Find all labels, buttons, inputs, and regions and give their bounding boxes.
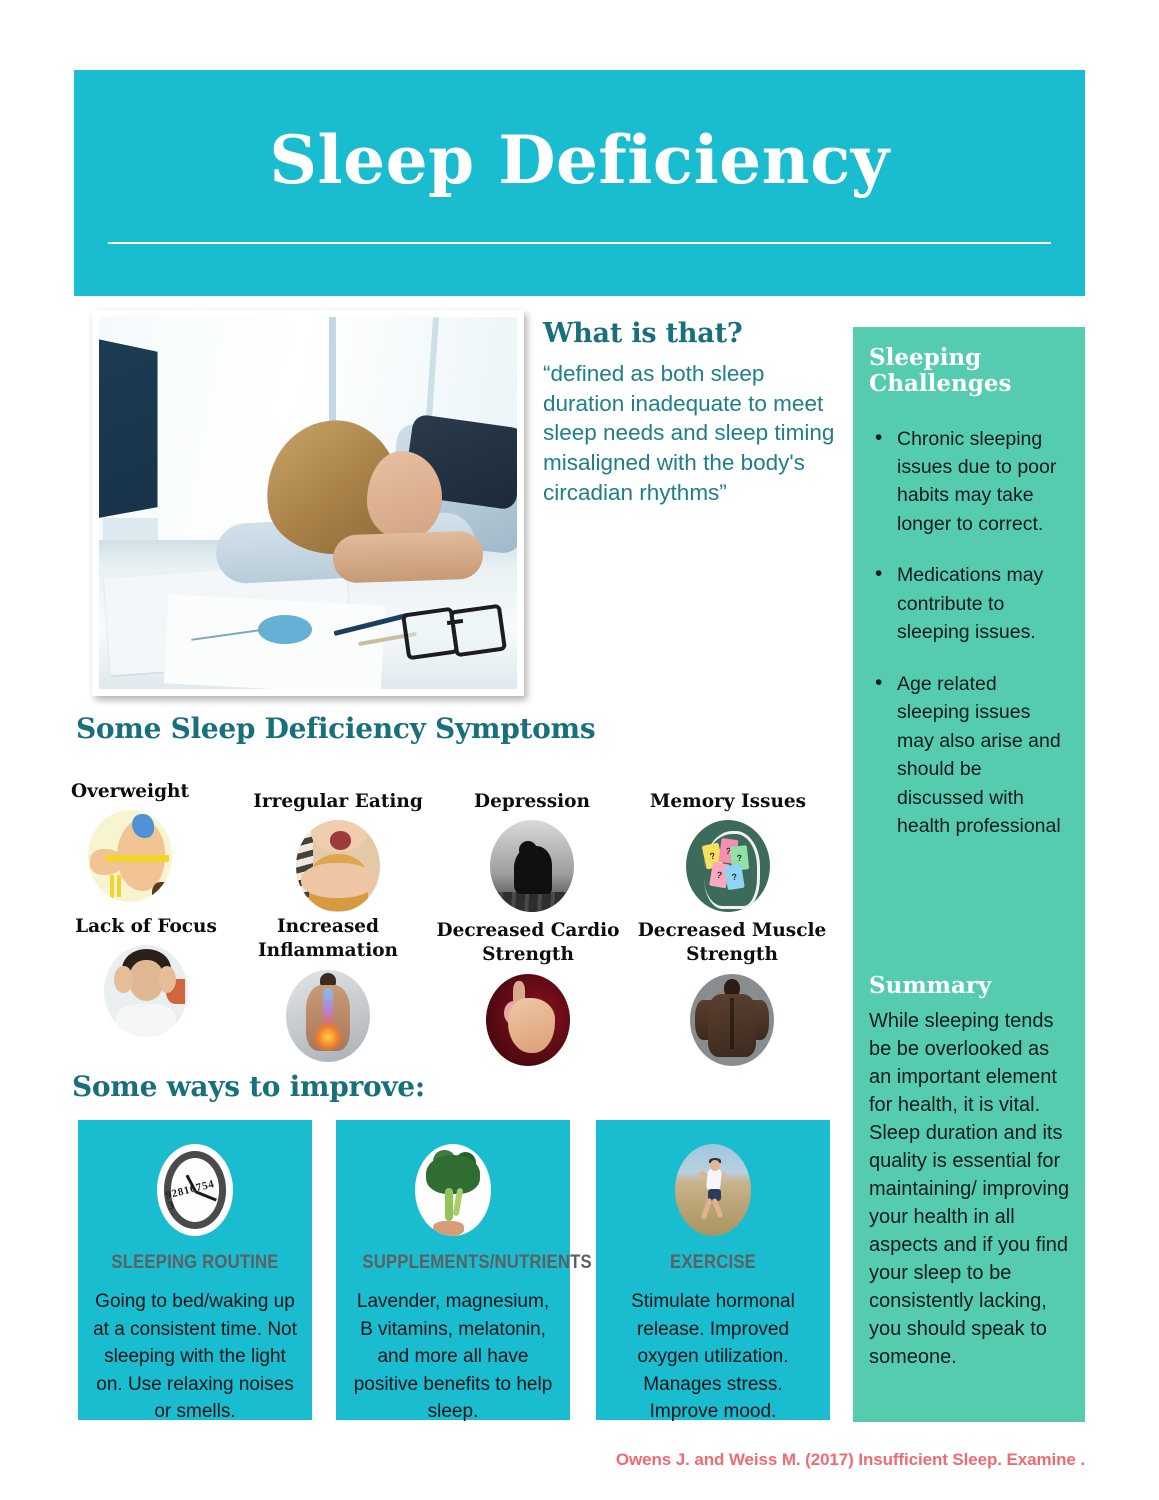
symptom-depression: Depression bbox=[432, 790, 632, 912]
sleeping-challenges-heading: Sleeping Challenges bbox=[869, 345, 1069, 397]
sleeping-man-photo bbox=[99, 317, 517, 689]
what-is-that-heading: What is that? bbox=[543, 318, 843, 349]
glasses-icon bbox=[404, 607, 504, 655]
runner-icon bbox=[675, 1144, 751, 1236]
list-item: Age related sleeping issues may also ari… bbox=[869, 670, 1069, 841]
symptom-increased-inflammation: Increased Inflammation bbox=[228, 915, 428, 1062]
what-is-that-body: “defined as both sleep duration inadequa… bbox=[543, 359, 843, 507]
symptom-label: Overweight bbox=[30, 780, 230, 804]
monitor-icon bbox=[99, 339, 158, 518]
cardio-strength-icon bbox=[486, 974, 570, 1066]
improve-card-supplements[interactable]: SUPPLEMENTS/NUTRIENTS Lavender, magnesiu… bbox=[336, 1120, 570, 1420]
symptoms-heading: Some Sleep Deficiency Symptoms bbox=[76, 712, 595, 745]
memory-issues-icon: ??? ?? bbox=[686, 820, 770, 912]
muscle-strength-icon bbox=[690, 974, 774, 1066]
card-title: EXERCISE bbox=[622, 1252, 803, 1274]
hero-photo-frame bbox=[92, 310, 524, 696]
summary-block: Summary While sleeping tends be be overl… bbox=[869, 972, 1071, 1371]
symptom-overweight: Overweight bbox=[30, 780, 230, 902]
card-body: Lavender, magnesium, B vitamins, melaton… bbox=[350, 1288, 556, 1426]
card-body: Going to bed/waking up at a consistent t… bbox=[92, 1288, 298, 1426]
improve-card-sleeping-routine[interactable]: 9 2 8 1 6 7 5 4 3 SLEEPING ROUTINE Going… bbox=[78, 1120, 312, 1420]
symptom-lack-of-focus: Lack of Focus bbox=[46, 915, 246, 1037]
list-item: Chronic sleeping issues due to poor habi… bbox=[869, 425, 1069, 539]
symptom-label: Decreased Muscle Strength bbox=[632, 919, 832, 968]
header-divider bbox=[108, 242, 1051, 244]
sleeping-challenges-list: Chronic sleeping issues due to poor habi… bbox=[869, 425, 1069, 841]
lack-of-focus-icon bbox=[104, 945, 188, 1037]
summary-body: While sleeping tends be be overlooked as… bbox=[869, 1007, 1071, 1371]
what-is-that-block: What is that? “defined as both sleep dur… bbox=[543, 318, 843, 507]
improve-card-exercise[interactable]: EXERCISE Stimulate hormonal release. Imp… bbox=[596, 1120, 830, 1420]
card-title: SLEEPING ROUTINE bbox=[104, 1252, 285, 1274]
sidebar-panel: Sleeping Challenges Chronic sleeping iss… bbox=[853, 327, 1085, 1422]
symptom-label: Depression bbox=[432, 790, 632, 814]
symptom-label: Lack of Focus bbox=[46, 915, 246, 939]
clock-icon: 9 2 8 1 6 7 5 4 3 bbox=[157, 1144, 233, 1236]
symptom-irregular-eating: Irregular Eating bbox=[238, 790, 438, 912]
symptom-label: Memory Issues bbox=[628, 790, 828, 814]
glasses-lens-right bbox=[449, 604, 507, 657]
symptom-decreased-muscle-strength: Decreased Muscle Strength bbox=[632, 919, 832, 1066]
inflammation-icon bbox=[286, 970, 370, 1062]
card-body: Stimulate hormonal release. Improved oxy… bbox=[610, 1288, 816, 1426]
depression-icon bbox=[490, 820, 574, 912]
citation-text: Owens J. and Weiss M. (2017) Insufficien… bbox=[0, 1450, 1085, 1470]
improve-heading: Some ways to improve: bbox=[72, 1070, 425, 1103]
symptom-decreased-cardio-strength: Decreased Cardio Strength bbox=[428, 919, 628, 1066]
summary-heading: Summary bbox=[869, 972, 1071, 999]
symptom-label: Decreased Cardio Strength bbox=[428, 919, 628, 968]
broccoli-icon bbox=[415, 1144, 491, 1236]
card-title: SUPPLEMENTS/NUTRIENTS bbox=[362, 1252, 543, 1274]
overweight-icon bbox=[88, 810, 172, 902]
face-shape bbox=[367, 451, 442, 540]
page-title: Sleep Deficiency bbox=[74, 126, 1085, 195]
list-item: Medications may contribute to sleeping i… bbox=[869, 561, 1069, 646]
irregular-eating-icon bbox=[296, 820, 380, 912]
symptom-label: Irregular Eating bbox=[238, 790, 438, 814]
header-banner: Sleep Deficiency bbox=[74, 70, 1085, 296]
forearm-shape bbox=[332, 530, 484, 584]
monitor-base-icon bbox=[103, 518, 157, 540]
clock-numbers: 9 2 8 1 6 7 5 4 3 bbox=[165, 1179, 227, 1233]
symptom-memory-issues: Memory Issues ??? ?? bbox=[628, 790, 828, 912]
symptom-label: Increased Inflammation bbox=[228, 915, 428, 964]
